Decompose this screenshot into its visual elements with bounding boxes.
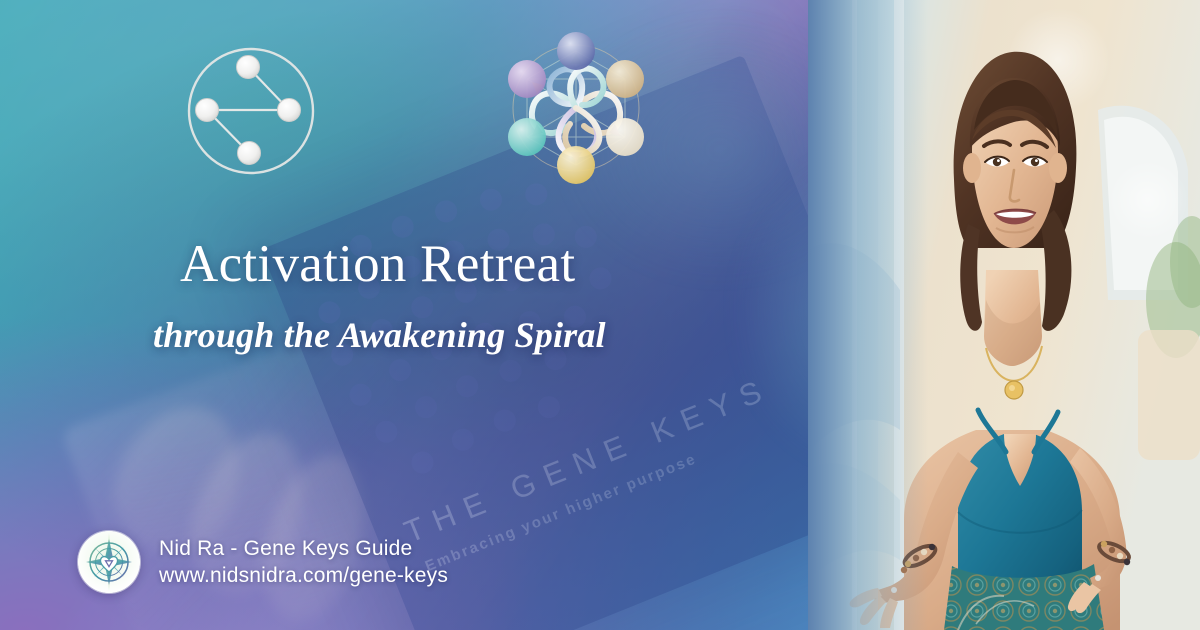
brand-logo (78, 531, 140, 593)
compass-heart-logo-icon (78, 531, 140, 593)
gene-keys-mandala-icon (496, 28, 656, 188)
promo-banner: THE GENE KEYS Embracing your higher purp… (0, 0, 1200, 630)
page-title: Activation Retreat (180, 236, 820, 292)
headline-block: Activation Retreat through the Awakening… (180, 236, 820, 356)
portrait-photo (808, 0, 1200, 630)
constellation-icon (178, 38, 324, 184)
brand-name: Nid Ra - Gene Keys Guide (159, 537, 448, 561)
brand-website: www.nidsnidra.com/gene-keys (159, 564, 448, 588)
footer-text-block: Nid Ra - Gene Keys Guide www.nidsnidra.c… (159, 537, 448, 588)
page-subtitle: through the Awakening Spiral (153, 316, 820, 356)
footer-brand: Nid Ra - Gene Keys Guide www.nidsnidra.c… (78, 531, 448, 593)
portrait-illustration (808, 0, 1200, 630)
